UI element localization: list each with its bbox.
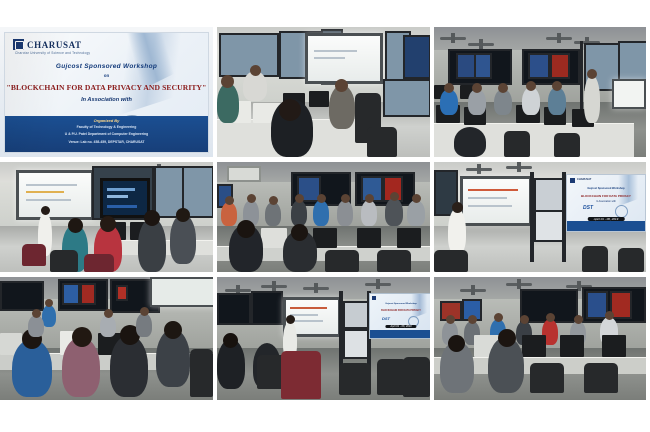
collage-cell-lab-projection <box>217 27 430 157</box>
collage-cell-presenter-banner: CHARUSAT Gujcost Sponsored Workshop BLOC… <box>434 162 646 272</box>
collage-cell-hands-on <box>0 277 213 400</box>
collage-cell-crowded-session <box>217 162 430 272</box>
collage-cell-banner: CHARUSAT Charotar University of Science … <box>0 27 213 157</box>
wall-banner: Gujcost Sponsored Workshop BLOCKCHAIN FO… <box>369 293 430 339</box>
banner-shading <box>5 33 208 152</box>
photo-collage: CHARUSAT Charotar University of Science … <box>0 27 650 400</box>
collage-cell-demo-pointing: Gujcost Sponsored Workshop BLOCKCHAIN FO… <box>217 277 430 400</box>
collage-cell-interactive-lab <box>434 277 646 400</box>
collage-cell-speaker-screen <box>0 162 213 272</box>
collage-cell-instructor-front <box>434 27 646 157</box>
wall-banner: CHARUSAT Gujcost Sponsored Workshop BLOC… <box>566 174 646 232</box>
